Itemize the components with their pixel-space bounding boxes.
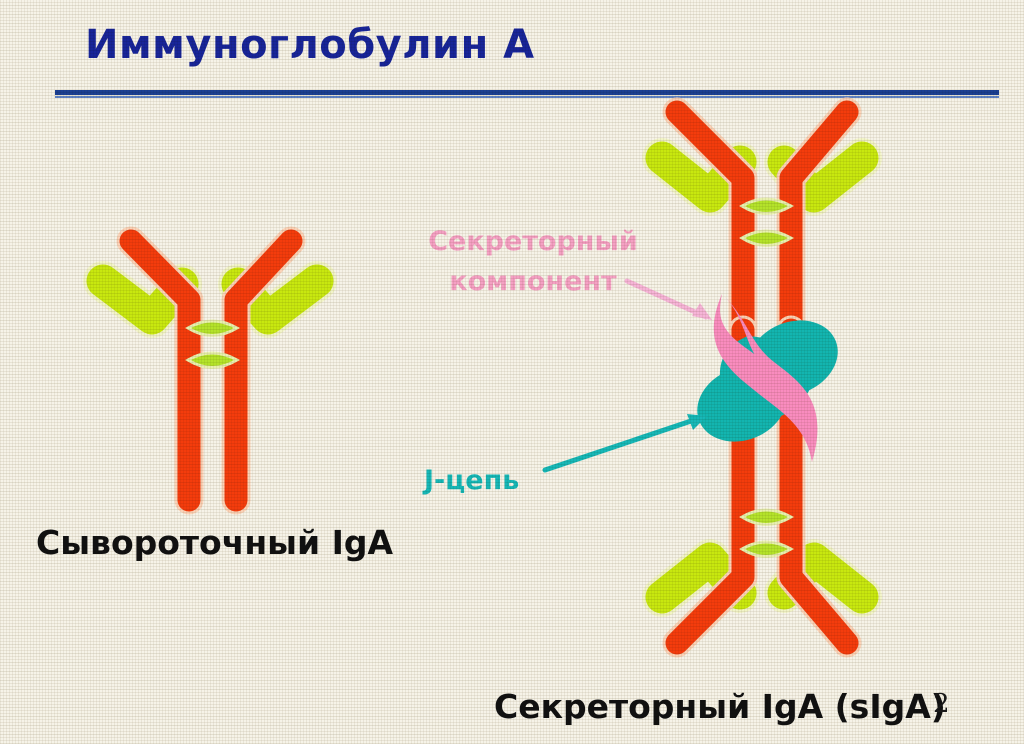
heavy-chain-right bbox=[236, 241, 291, 500]
disulfide-bond-lower bbox=[188, 353, 237, 368]
secretory-component-label: Секреторный компонент bbox=[418, 222, 648, 302]
upper-disulfide-bond-1 bbox=[742, 199, 791, 214]
iga-structure-diagram bbox=[0, 0, 1024, 744]
j-chain-label: J-цепь bbox=[424, 465, 519, 496]
serum-iga-caption: Сывороточный IgA bbox=[36, 523, 393, 562]
heavy-chain-left bbox=[131, 241, 189, 500]
upper-disulfide-bond-2 bbox=[742, 231, 791, 246]
page-number: 2 bbox=[933, 689, 950, 719]
secretory-iga-caption: Секреторный IgA (sIgA) bbox=[494, 687, 946, 726]
secretory-component-label-line2: компонент bbox=[418, 262, 648, 302]
secretory-component-label-line1: Секреторный bbox=[418, 222, 648, 262]
lower-disulfide-bond-1 bbox=[742, 542, 791, 557]
secretory-iga-dimer bbox=[545, 112, 862, 643]
serum-iga-monomer bbox=[103, 241, 317, 500]
lower-disulfide-bond-2 bbox=[742, 510, 791, 525]
j-chain-arrow-icon bbox=[545, 414, 707, 470]
disulfide-bond-upper bbox=[188, 321, 237, 336]
slide-canvas: Иммуноглобулин А bbox=[0, 0, 1024, 744]
